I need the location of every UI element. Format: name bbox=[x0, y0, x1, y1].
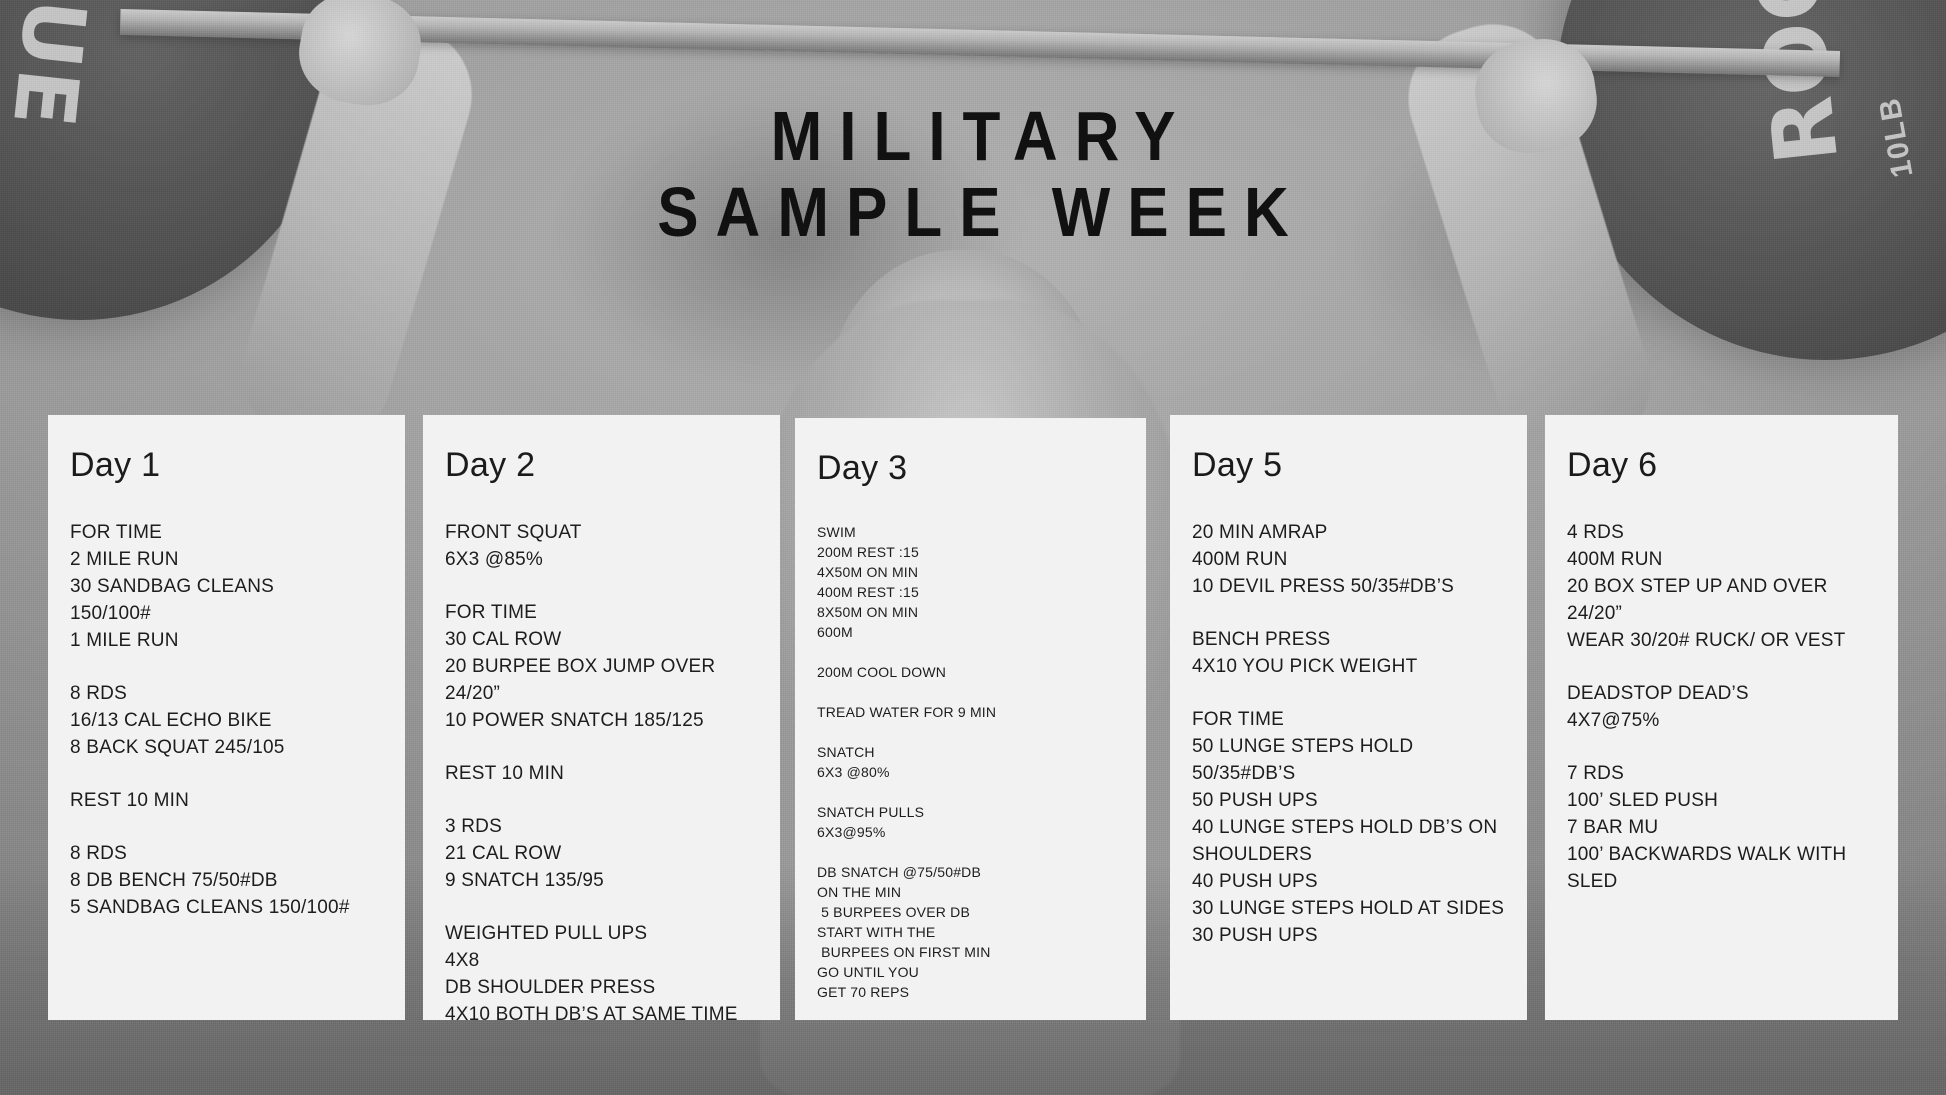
workout-text: SWIM 200M REST :15 4X50M ON MIN 400M RES… bbox=[817, 522, 1124, 642]
workout-text: REST 10 MIN bbox=[70, 787, 383, 814]
workout-block: SNATCH 6X3 @80% bbox=[817, 742, 1124, 782]
day-card-1[interactable]: Day 1 FOR TIME 2 MILE RUN 30 SANDBAG CLE… bbox=[48, 415, 405, 1020]
workout-block: 20 MIN AMRAP 400M RUN 10 DEVIL PRESS 50/… bbox=[1192, 519, 1505, 600]
workout-block: 200M COOL DOWN bbox=[817, 662, 1124, 682]
day-card-3-title: Day 3 bbox=[817, 448, 1124, 488]
workout-text: REST 10 MIN bbox=[445, 760, 758, 787]
workout-text: 7 RDS 100’ SLED PUSH 7 BAR MU 100’ BACKW… bbox=[1567, 760, 1876, 895]
day-card-5-blocks: 20 MIN AMRAP 400M RUN 10 DEVIL PRESS 50/… bbox=[1192, 519, 1505, 949]
workout-block: REST 10 MIN bbox=[445, 760, 758, 787]
day-card-6-blocks: 4 RDS 400M RUN 20 BOX STEP UP AND OVER 2… bbox=[1567, 519, 1876, 895]
workout-text: BENCH PRESS 4X10 YOU PICK WEIGHT bbox=[1192, 626, 1505, 680]
workout-text: FOR TIME 50 LUNGE STEPS HOLD 50/35#DB’S … bbox=[1192, 706, 1505, 949]
workout-text: WEIGHTED PULL UPS 4X8 DB SHOULDER PRESS … bbox=[445, 920, 758, 1020]
workout-text: DEADSTOP DEAD’S 4X7@75% bbox=[1567, 680, 1876, 734]
workout-block: BENCH PRESS 4X10 YOU PICK WEIGHT bbox=[1192, 626, 1505, 680]
workout-block: 8 RDS 16/13 CAL ECHO BIKE 8 BACK SQUAT 2… bbox=[70, 680, 383, 761]
workout-block: SWIM 200M REST :15 4X50M ON MIN 400M RES… bbox=[817, 522, 1124, 642]
day-card-6[interactable]: Day 6 4 RDS 400M RUN 20 BOX STEP UP AND … bbox=[1545, 415, 1898, 1020]
workout-block: FOR TIME 30 CAL ROW 20 BURPEE BOX JUMP O… bbox=[445, 599, 758, 734]
workout-block: DB SNATCH @75/50#DB ON THE MIN 5 BURPEES… bbox=[817, 862, 1124, 1002]
day-card-1-blocks: FOR TIME 2 MILE RUN 30 SANDBAG CLEANS 15… bbox=[70, 519, 383, 921]
day-card-6-title: Day 6 bbox=[1567, 445, 1876, 485]
day-card-3-blocks: SWIM 200M REST :15 4X50M ON MIN 400M RES… bbox=[817, 522, 1124, 1002]
title-line-2: SAMPLE WEEK bbox=[0, 171, 1946, 256]
day-card-5-title: Day 5 bbox=[1192, 445, 1505, 485]
workout-text: SNATCH 6X3 @80% bbox=[817, 742, 1124, 782]
workout-text: FRONT SQUAT 6X3 @85% bbox=[445, 519, 758, 573]
day-card-3[interactable]: Day 3 SWIM 200M REST :15 4X50M ON MIN 40… bbox=[795, 418, 1146, 1020]
workout-block: REST 10 MIN bbox=[70, 787, 383, 814]
day-card-2[interactable]: Day 2 FRONT SQUAT 6X3 @85% FOR TIME 30 C… bbox=[423, 415, 780, 1020]
day-card-2-blocks: FRONT SQUAT 6X3 @85% FOR TIME 30 CAL ROW… bbox=[445, 519, 758, 1020]
workout-block: 3 RDS 21 CAL ROW 9 SNATCH 135/95 bbox=[445, 813, 758, 894]
workout-block: DEADSTOP DEAD’S 4X7@75% bbox=[1567, 680, 1876, 734]
workout-block: FRONT SQUAT 6X3 @85% bbox=[445, 519, 758, 573]
day-card-1-title: Day 1 bbox=[70, 445, 383, 485]
workout-text: 8 RDS 8 DB BENCH 75/50#DB 5 SANDBAG CLEA… bbox=[70, 840, 383, 921]
workout-block: SNATCH PULLS 6X3@95% bbox=[817, 802, 1124, 842]
workout-block: 7 RDS 100’ SLED PUSH 7 BAR MU 100’ BACKW… bbox=[1567, 760, 1876, 895]
workout-text: TREAD WATER FOR 9 MIN bbox=[817, 702, 1124, 722]
workout-block: 4 RDS 400M RUN 20 BOX STEP UP AND OVER 2… bbox=[1567, 519, 1876, 654]
workout-text: SNATCH PULLS 6X3@95% bbox=[817, 802, 1124, 842]
workout-block: FOR TIME 2 MILE RUN 30 SANDBAG CLEANS 15… bbox=[70, 519, 383, 654]
day-card-5[interactable]: Day 5 20 MIN AMRAP 400M RUN 10 DEVIL PRE… bbox=[1170, 415, 1527, 1020]
workout-block: 8 RDS 8 DB BENCH 75/50#DB 5 SANDBAG CLEA… bbox=[70, 840, 383, 921]
workout-text: 20 MIN AMRAP 400M RUN 10 DEVIL PRESS 50/… bbox=[1192, 519, 1505, 600]
workout-block: TREAD WATER FOR 9 MIN bbox=[817, 702, 1124, 722]
workout-block: FOR TIME 50 LUNGE STEPS HOLD 50/35#DB’S … bbox=[1192, 706, 1505, 949]
workout-text: 4 RDS 400M RUN 20 BOX STEP UP AND OVER 2… bbox=[1567, 519, 1876, 654]
poster-title: MILITARY SAMPLE WEEK bbox=[0, 95, 1946, 247]
title-line-1: MILITARY bbox=[0, 95, 1946, 180]
workout-text: 200M COOL DOWN bbox=[817, 662, 1124, 682]
day-card-2-title: Day 2 bbox=[445, 445, 758, 485]
workout-text: FOR TIME 30 CAL ROW 20 BURPEE BOX JUMP O… bbox=[445, 599, 758, 734]
workout-text: 8 RDS 16/13 CAL ECHO BIKE 8 BACK SQUAT 2… bbox=[70, 680, 383, 761]
workout-text: 3 RDS 21 CAL ROW 9 SNATCH 135/95 bbox=[445, 813, 758, 894]
poster-canvas: ROGUE 10LB ROGUE 10LB MILITARY SAMPLE WE… bbox=[0, 0, 1946, 1095]
workout-block: WEIGHTED PULL UPS 4X8 DB SHOULDER PRESS … bbox=[445, 920, 758, 1020]
workout-text: DB SNATCH @75/50#DB ON THE MIN 5 BURPEES… bbox=[817, 862, 1124, 1002]
workout-text: FOR TIME 2 MILE RUN 30 SANDBAG CLEANS 15… bbox=[70, 519, 383, 654]
